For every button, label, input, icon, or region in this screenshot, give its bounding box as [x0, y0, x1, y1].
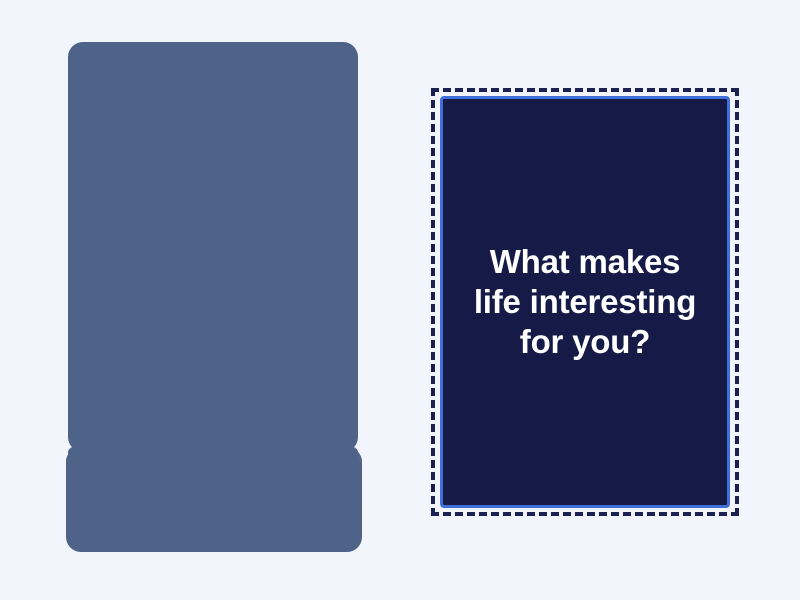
question-text: What makes life interesting for you?	[460, 242, 710, 362]
card-deck[interactable]	[0, 0, 420, 600]
screen: What makes life interesting for you?	[0, 0, 800, 600]
deck-top-card[interactable]	[68, 42, 358, 452]
question-card[interactable]: What makes life interesting for you?	[440, 96, 730, 508]
